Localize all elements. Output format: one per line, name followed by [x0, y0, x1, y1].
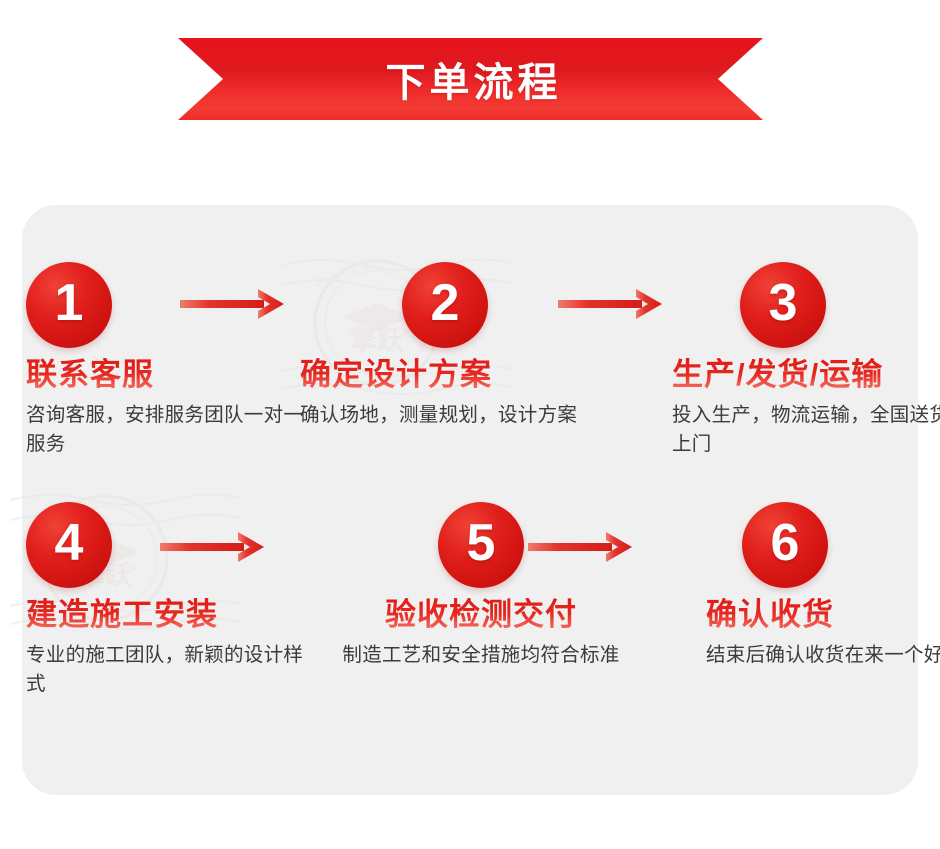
step-title: 联系客服: [26, 358, 316, 393]
step-description: 结束后确认收货在来一个好评~~: [706, 641, 940, 670]
step-number: 4: [55, 517, 84, 569]
process-step-1: 1 联系客服 咨询客服，安排服务团队一对一服务: [26, 262, 316, 458]
step-title: 确定设计方案: [300, 358, 590, 393]
process-step-2: 2 确定设计方案 确认场地，测量规划，设计方案: [300, 262, 590, 430]
step-description: 咨询客服，安排服务团队一对一服务: [26, 401, 316, 459]
process-step-3: 3 生产/发货/运输 投入生产，物流运输，全国送货上门: [672, 262, 940, 458]
step-title: 验收检测交付: [336, 598, 626, 633]
step-number-badge: 2: [402, 262, 488, 348]
step-title: 生产/发货/运输: [672, 358, 940, 393]
step-number: 1: [55, 277, 84, 329]
step-description: 投入生产，物流运输，全国送货上门: [672, 401, 940, 459]
step-description: 制造工艺和安全措施均符合标准: [336, 641, 626, 670]
step-number: 3: [769, 277, 798, 329]
step-title: 确认收货: [706, 598, 940, 633]
process-step-4: 4 建造施工安装 专业的施工团队，新颖的设计样式: [26, 502, 316, 698]
step-number-badge: 6: [742, 502, 828, 588]
process-step-6: 6 确认收货 结束后确认收货在来一个好评~~: [706, 502, 940, 670]
step-number-badge: 3: [740, 262, 826, 348]
step-title: 建造施工安装: [26, 598, 316, 633]
process-step-5: 5 验收检测交付 制造工艺和安全措施均符合标准: [336, 502, 626, 670]
step-number: 5: [467, 517, 496, 569]
step-number: 2: [431, 277, 460, 329]
step-number-badge: 4: [26, 502, 112, 588]
step-description: 确认场地，测量规划，设计方案: [300, 401, 590, 430]
step-description: 专业的施工团队，新颖的设计样式: [26, 641, 316, 699]
step-number-badge: 1: [26, 262, 112, 348]
step-number-badge: 5: [438, 502, 524, 588]
step-number: 6: [771, 517, 800, 569]
process-steps: 1 联系客服 咨询客服，安排服务团队一对一服务 2 确定设计方案 确认场地，测量…: [0, 0, 940, 849]
